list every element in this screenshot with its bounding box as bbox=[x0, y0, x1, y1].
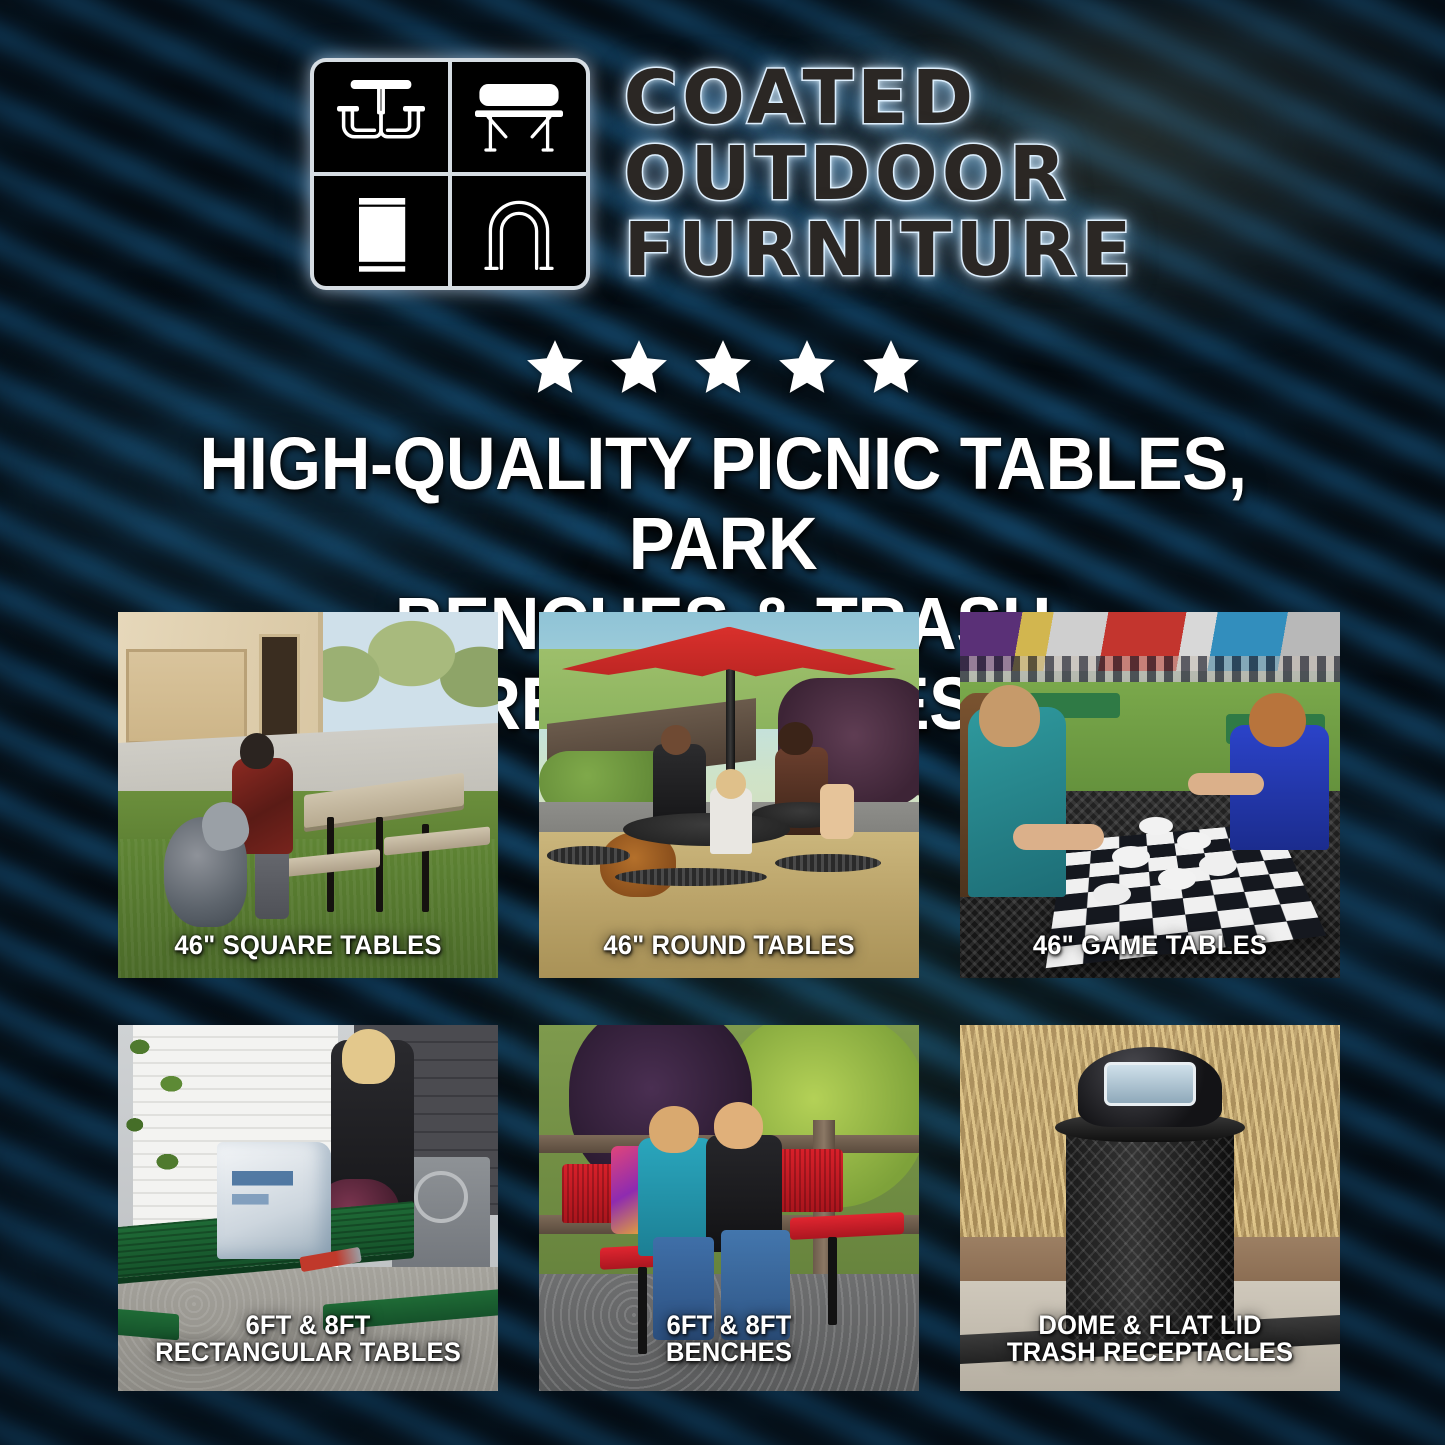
product-photo-game-tables bbox=[960, 612, 1340, 978]
star-icon bbox=[524, 336, 586, 398]
caption-line-1: 46" ROUND TABLES bbox=[556, 932, 902, 960]
brand-logo: COATED OUTDOOR FURNITURE bbox=[0, 58, 1445, 290]
arch-bike-rack-icon bbox=[452, 176, 586, 286]
product-caption: DOME & FLAT LID TRASH RECEPTACLES bbox=[960, 1312, 1340, 1385]
trash-receptacle-icon bbox=[314, 176, 448, 286]
product-caption: 6FT & 8FT RECTANGULAR TABLES bbox=[118, 1312, 498, 1385]
product-caption: 46" ROUND TABLES bbox=[539, 932, 919, 978]
product-tile-round-tables[interactable]: 46" ROUND TABLES bbox=[539, 612, 919, 978]
brand-name-line-3: FURNITURE bbox=[624, 213, 1136, 287]
caption-line-1: DOME & FLAT LID bbox=[977, 1312, 1323, 1340]
promo-poster: COATED OUTDOOR FURNITURE HIGH-QUALITY PI… bbox=[0, 0, 1445, 1445]
star-icon bbox=[860, 336, 922, 398]
caption-line-2: BENCHES bbox=[556, 1339, 902, 1367]
product-photo-square-tables bbox=[118, 612, 498, 978]
star-icon bbox=[608, 336, 670, 398]
product-tile-trash-receptacles[interactable]: DOME & FLAT LID TRASH RECEPTACLES bbox=[960, 1025, 1340, 1391]
caption-line-2: TRASH RECEPTACLES bbox=[977, 1339, 1323, 1367]
picnic-table-icon bbox=[314, 62, 448, 172]
product-caption: 6FT & 8FT BENCHES bbox=[539, 1312, 919, 1385]
headline-line-1: HIGH-QUALITY PICNIC TABLES, PARK bbox=[137, 424, 1309, 584]
product-caption: 46" SQUARE TABLES bbox=[118, 932, 498, 978]
product-grid: 46" SQUARE TABLES bbox=[118, 612, 1340, 1391]
product-tile-benches[interactable]: 6FT & 8FT BENCHES bbox=[539, 1025, 919, 1391]
caption-line-2: RECTANGULAR TABLES bbox=[135, 1339, 481, 1367]
star-icon bbox=[692, 336, 754, 398]
caption-line-1: 46" GAME TABLES bbox=[977, 932, 1323, 960]
brand-name-line-2: OUTDOOR bbox=[624, 137, 1136, 211]
brand-name-line-1: COATED bbox=[624, 61, 1136, 135]
star-icon bbox=[776, 336, 838, 398]
product-tile-square-tables[interactable]: 46" SQUARE TABLES bbox=[118, 612, 498, 978]
star-rating bbox=[0, 336, 1445, 398]
product-photo-round-tables bbox=[539, 612, 919, 978]
product-caption: 46" GAME TABLES bbox=[960, 932, 1340, 978]
caption-line-1: 6FT & 8FT bbox=[135, 1312, 481, 1340]
caption-line-1: 6FT & 8FT bbox=[556, 1312, 902, 1340]
brand-wordmark: COATED OUTDOOR FURNITURE bbox=[624, 61, 1136, 287]
product-tile-rectangular-tables[interactable]: 6FT & 8FT RECTANGULAR TABLES bbox=[118, 1025, 498, 1391]
logo-icon-grid bbox=[310, 58, 590, 290]
bench-icon bbox=[452, 62, 586, 172]
product-tile-game-tables[interactable]: 46" GAME TABLES bbox=[960, 612, 1340, 978]
caption-line-1: 46" SQUARE TABLES bbox=[135, 932, 481, 960]
